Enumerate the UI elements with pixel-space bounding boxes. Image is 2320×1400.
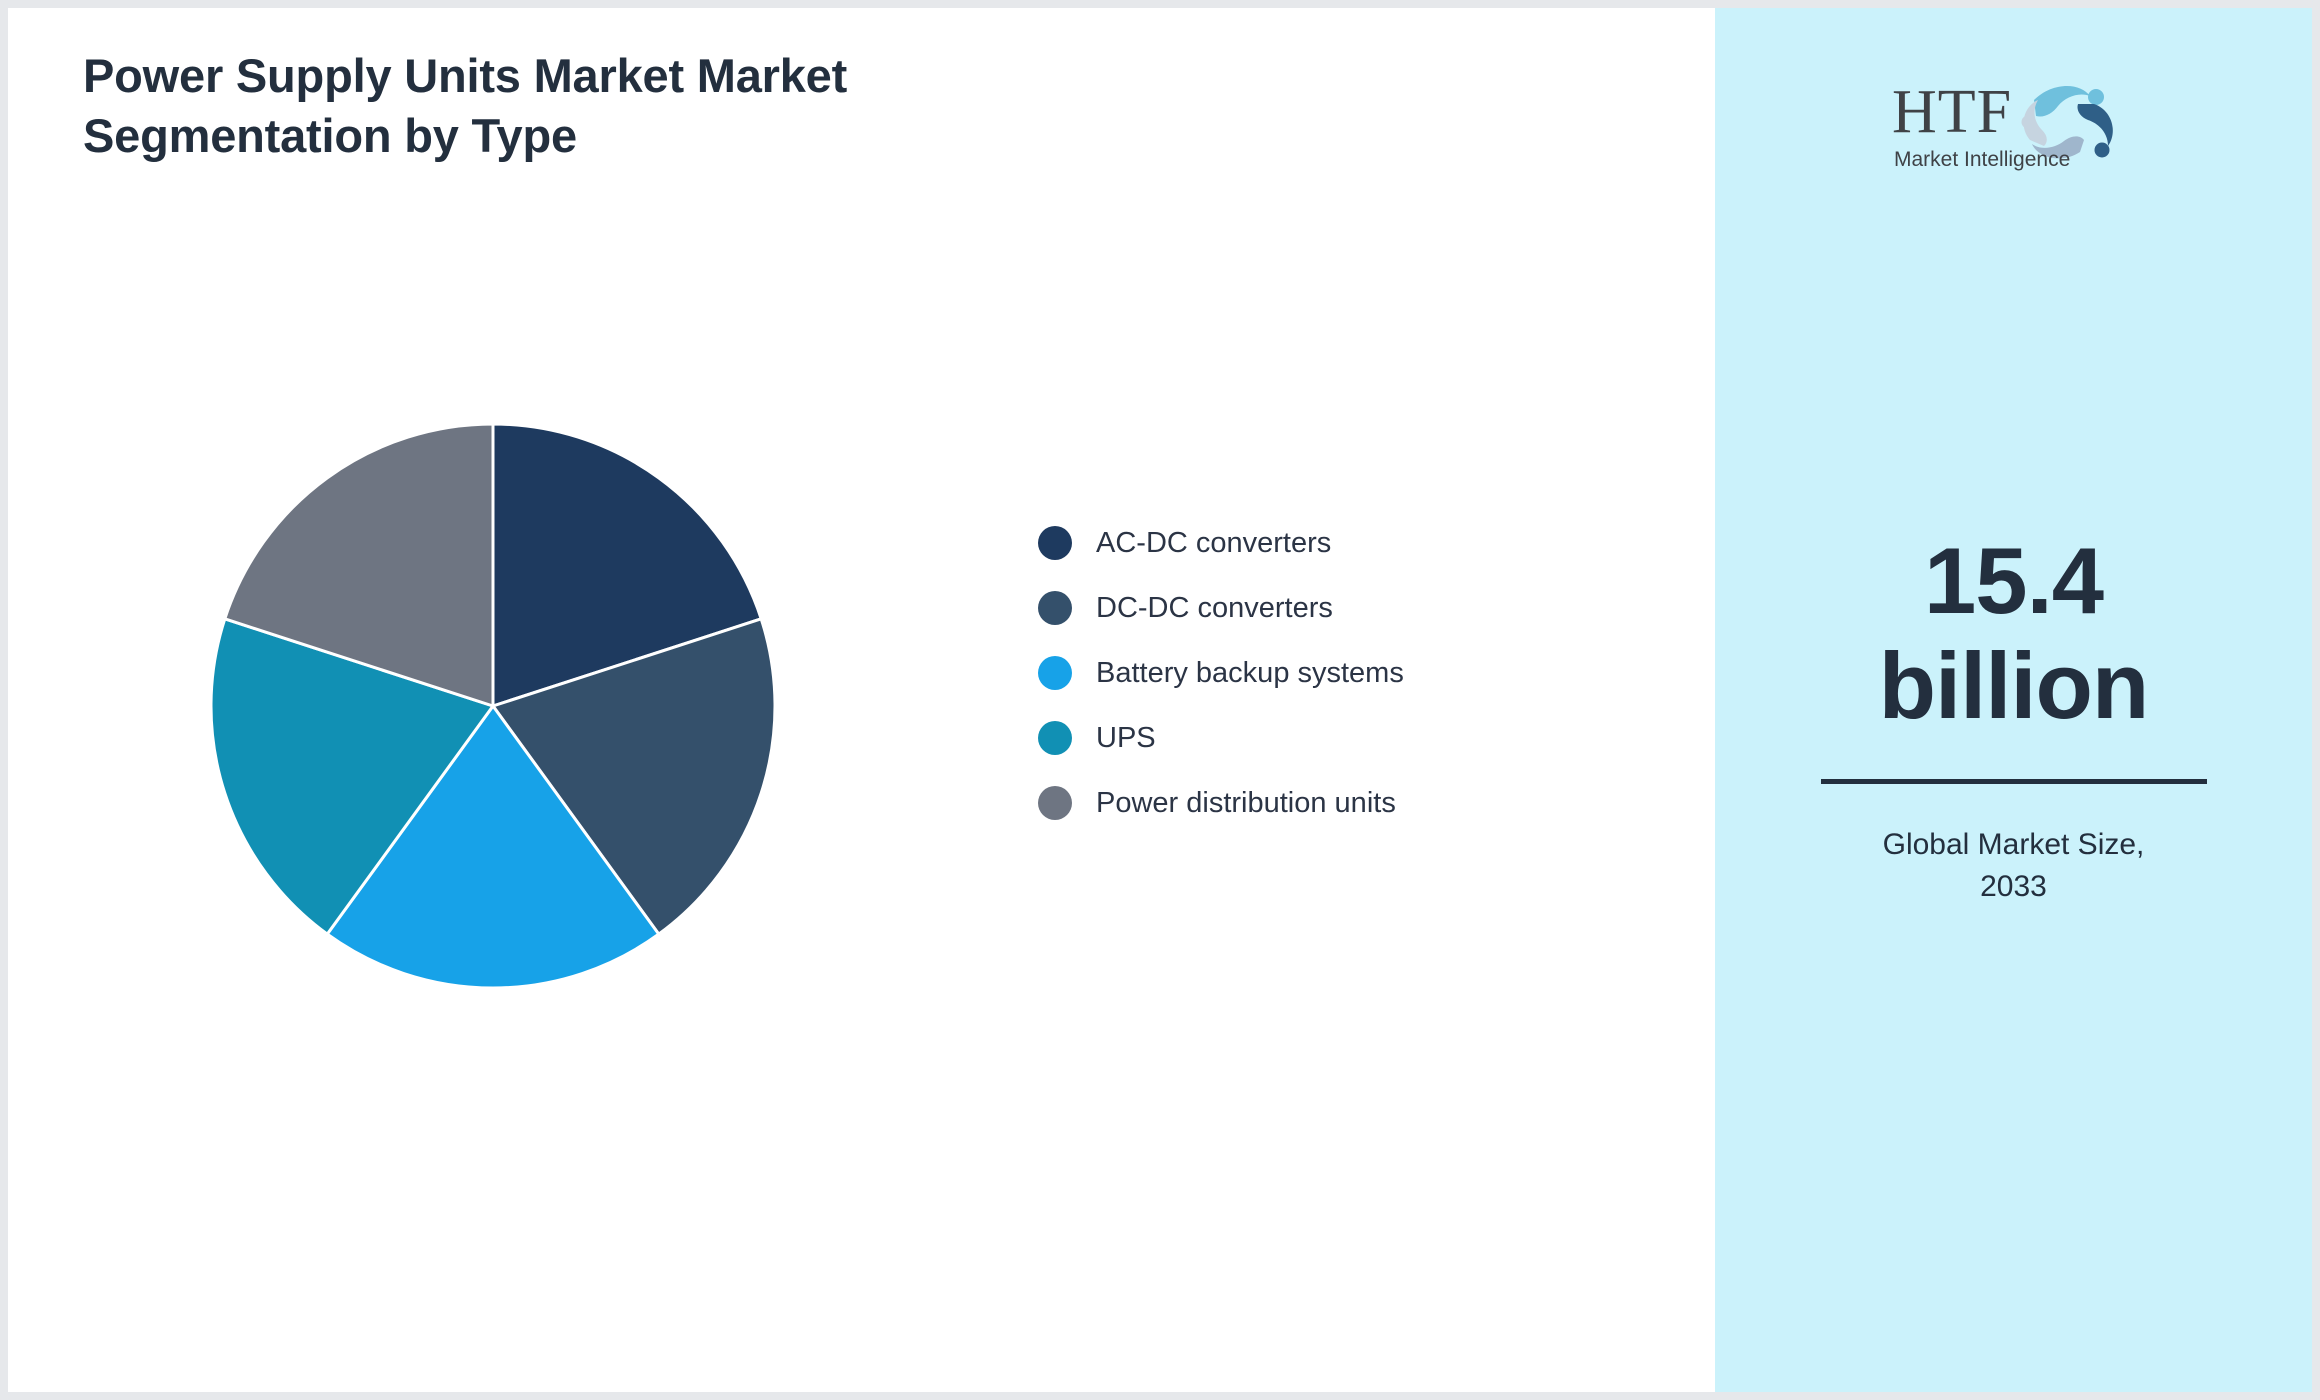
legend-item-label: AC-DC converters xyxy=(1096,529,1331,558)
legend-swatch-icon xyxy=(1038,526,1072,560)
legend-item-label: DC-DC converters xyxy=(1096,594,1333,623)
legend-item-power-distribution-units[interactable]: Power distribution units xyxy=(1038,786,1404,820)
legend-item-ac-dc-converters[interactable]: AC-DC converters xyxy=(1038,526,1404,560)
chart-legend: AC-DC converters DC-DC converters Batter… xyxy=(1038,526,1404,820)
infographic-card: Power Supply Units Market Market Segment… xyxy=(8,8,2312,1392)
market-size-stat: 15.4 billion Global Market Size, 2033 xyxy=(1715,528,2312,909)
htf-market-intelligence-logo: HTF Market Intelligence xyxy=(1715,70,2312,174)
pie-chart xyxy=(203,416,783,996)
stat-divider xyxy=(1821,779,2207,784)
stat-caption: Global Market Size, 2033 xyxy=(1849,824,2179,909)
legend-item-label: UPS xyxy=(1096,724,1156,753)
legend-swatch-icon xyxy=(1038,786,1072,820)
svg-text:Market Intelligence: Market Intelligence xyxy=(1894,148,2070,171)
legend-item-label: Battery backup systems xyxy=(1096,659,1404,688)
legend-item-ups[interactable]: UPS xyxy=(1038,721,1404,755)
logo-svg: HTF Market Intelligence xyxy=(1884,70,2144,174)
legend-swatch-icon xyxy=(1038,656,1072,690)
pie-chart-svg xyxy=(203,416,783,996)
legend-swatch-icon xyxy=(1038,591,1072,625)
chart-pane: Power Supply Units Market Market Segment… xyxy=(8,8,1715,1392)
page-title: Power Supply Units Market Market Segment… xyxy=(83,46,1083,166)
legend-item-dc-dc-converters[interactable]: DC-DC converters xyxy=(1038,591,1404,625)
stat-panel: HTF Market Intelligence xyxy=(1715,8,2312,1392)
legend-swatch-icon xyxy=(1038,721,1072,755)
poster-page: Power Supply Units Market Market Segment… xyxy=(0,0,2320,1400)
stat-value: 15.4 billion xyxy=(1794,528,2234,739)
legend-item-label: Power distribution units xyxy=(1096,789,1396,818)
legend-item-battery-backup-systems[interactable]: Battery backup systems xyxy=(1038,656,1404,690)
svg-text:HTF: HTF xyxy=(1892,78,2012,146)
